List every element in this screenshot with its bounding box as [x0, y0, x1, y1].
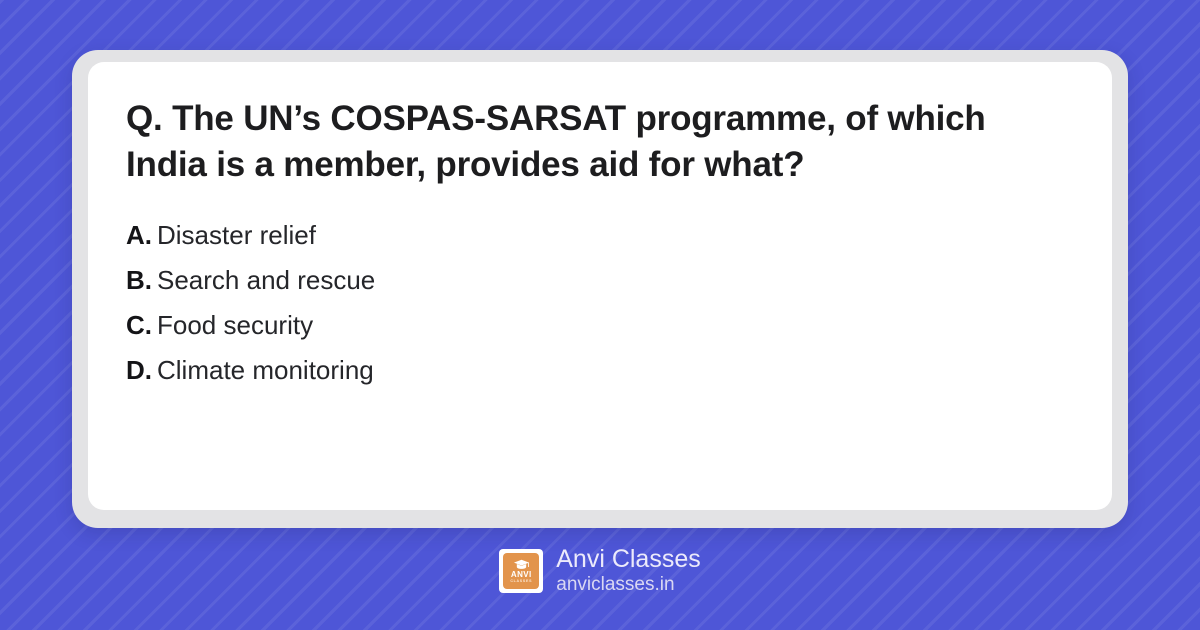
footer-branding: ANVI CLASSES Anvi Classes anviclasses.in [0, 545, 1200, 597]
brand-name: Anvi Classes [556, 545, 701, 573]
option-a-letter: A. [126, 220, 152, 250]
options-list: A.Disaster relief B.Search and rescue C.… [126, 213, 1074, 392]
option-b[interactable]: B.Search and rescue [126, 258, 1074, 303]
option-c[interactable]: C.Food security [126, 303, 1074, 348]
brand-logo-subword: CLASSES [510, 580, 532, 584]
question-text: Q. The UN’s COSPAS-SARSAT programme, of … [126, 96, 1074, 188]
option-b-letter: B. [126, 265, 152, 295]
option-a[interactable]: A.Disaster relief [126, 213, 1074, 258]
option-c-letter: C. [126, 310, 152, 340]
brand-text-block: Anvi Classes anviclasses.in [556, 545, 701, 597]
option-d[interactable]: D.Climate monitoring [126, 348, 1074, 393]
brand-logo-tile: ANVI CLASSES [503, 553, 539, 589]
option-a-label: Disaster relief [157, 220, 316, 250]
option-d-label: Climate monitoring [157, 355, 374, 385]
option-d-letter: D. [126, 355, 152, 385]
option-b-label: Search and rescue [157, 265, 375, 295]
option-c-label: Food security [157, 310, 313, 340]
question-card-body: Q. The UN’s COSPAS-SARSAT programme, of … [88, 62, 1112, 510]
graduation-cap-icon [513, 559, 530, 570]
question-card: Q. The UN’s COSPAS-SARSAT programme, of … [72, 50, 1128, 528]
brand-logo-word: ANVI [511, 571, 532, 579]
brand-logo: ANVI CLASSES [499, 549, 543, 593]
brand-website[interactable]: anviclasses.in [556, 573, 701, 597]
